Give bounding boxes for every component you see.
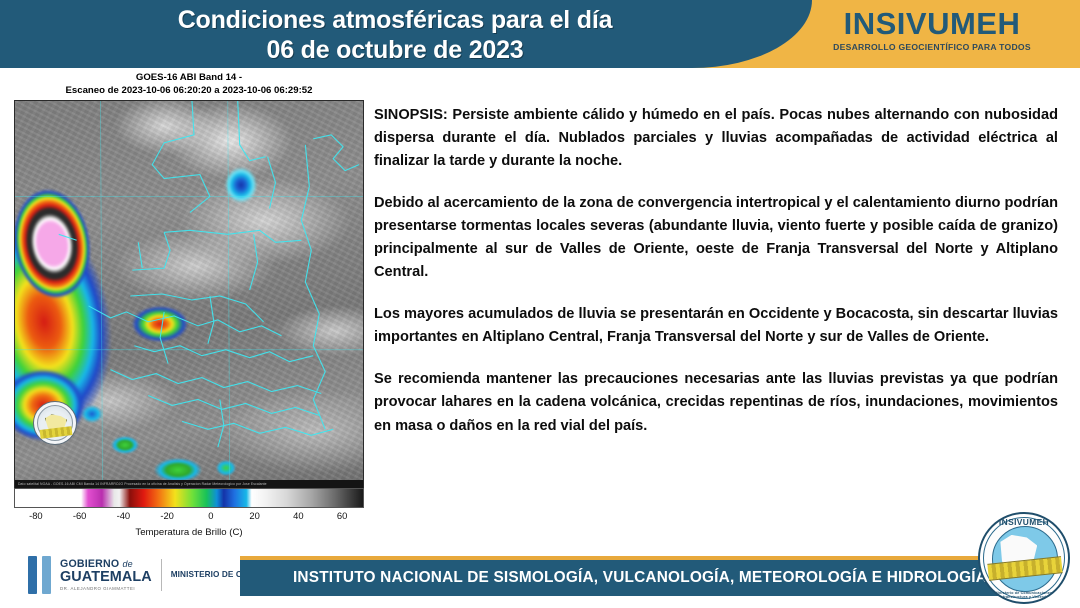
colorbar-axis-label: Temperatura de Brillo (C) — [14, 527, 364, 538]
satellite-title-line2: Escaneo de 2023-10-06 06:20:20 a 2023-10… — [14, 85, 364, 98]
institute-banner: INSTITUTO NACIONAL DE SISMOLOGÍA, VULCAN… — [240, 556, 1040, 596]
government-wordmark: GOBIERNO de GUATEMALA DR. ALEJANDRO GIAM… — [60, 559, 162, 591]
colorbar-tick-4: 0 — [208, 510, 213, 521]
page-title-line1: Condiciones atmosféricas para el día — [178, 6, 613, 34]
colorbar-tick-7: 60 — [337, 510, 347, 521]
colorbar-ticks: -80 -60 -40 -20 0 20 40 60 — [14, 510, 364, 526]
colorbar-gradient — [14, 488, 364, 508]
synopsis-paragraph-3: Los mayores acumulados de lluvia se pres… — [374, 303, 1058, 349]
government-line3: DR. ALEJANDRO GIAMMATTEI — [60, 587, 152, 591]
colorbar-tick-6: 40 — [293, 510, 303, 521]
colorbar-tick-3: -20 — [160, 510, 174, 521]
synopsis-paragraph-1: SINOPSIS: Persiste ambiente cálido y húm… — [374, 104, 1058, 173]
page-footer: GOBIERNO de GUATEMALA DR. ALEJANDRO GIAM… — [0, 546, 1080, 608]
government-line2: GUATEMALA — [60, 570, 152, 585]
satellite-watermark-seal — [33, 401, 77, 445]
satellite-image: Dato satelital NOAA - GOES-16 ABI CMI Ba… — [14, 100, 364, 490]
page-title-line2: 06 de octubre de 2023 — [0, 36, 790, 66]
government-line1-italic: de — [122, 559, 132, 569]
flag-bars-icon — [28, 556, 51, 594]
satellite-panel: GOES-16 ABI Band 14 - Escaneo de 2023-10… — [14, 72, 364, 490]
page-header: Condiciones atmosféricas para el día 06 … — [0, 0, 1080, 68]
page-title: Condiciones atmosféricas para el día 06 … — [0, 6, 790, 65]
synopsis-paragraph-2: Debido al acercamiento de la zona de con… — [374, 192, 1058, 284]
colorbar-section: -80 -60 -40 -20 0 20 40 60 Temperatura d… — [14, 488, 364, 538]
flag-bar-right — [42, 556, 51, 594]
brand-name: INSIVUMEH — [810, 8, 1054, 39]
flag-bar-left — [28, 556, 37, 594]
seal-top-label: INSIVUMEH — [980, 517, 1068, 527]
colorbar-tick-2: -40 — [117, 510, 131, 521]
satellite-title-line1: GOES-16 ABI Band 14 - — [136, 72, 242, 83]
colorbar-tick-0: -80 — [29, 510, 43, 521]
colorbar-tick-5: 20 — [249, 510, 259, 521]
synopsis-text: SINOPSIS: Persiste ambiente cálido y húm… — [374, 104, 1058, 438]
insivumeh-seal: INSIVUMEH Ministerio de Comunicaciones, … — [978, 512, 1070, 604]
brand-tagline: DESARROLLO GEOCIENTÍFICO PARA TODOS — [810, 42, 1054, 52]
satellite-title: GOES-16 ABI Band 14 - Escaneo de 2023-10… — [14, 72, 364, 97]
colorbar-tick-1: -60 — [73, 510, 87, 521]
insivumeh-brand: INSIVUMEH DESARROLLO GEOCIENTÍFICO PARA … — [810, 8, 1054, 52]
institute-name: INSTITUTO NACIONAL DE SISMOLOGÍA, VULCAN… — [293, 569, 987, 587]
synopsis-paragraph-4: Se recomienda mantener las precauciones … — [374, 368, 1058, 437]
seal-bottom-label: Ministerio de Comunicaciones, Infraestru… — [980, 591, 1068, 599]
